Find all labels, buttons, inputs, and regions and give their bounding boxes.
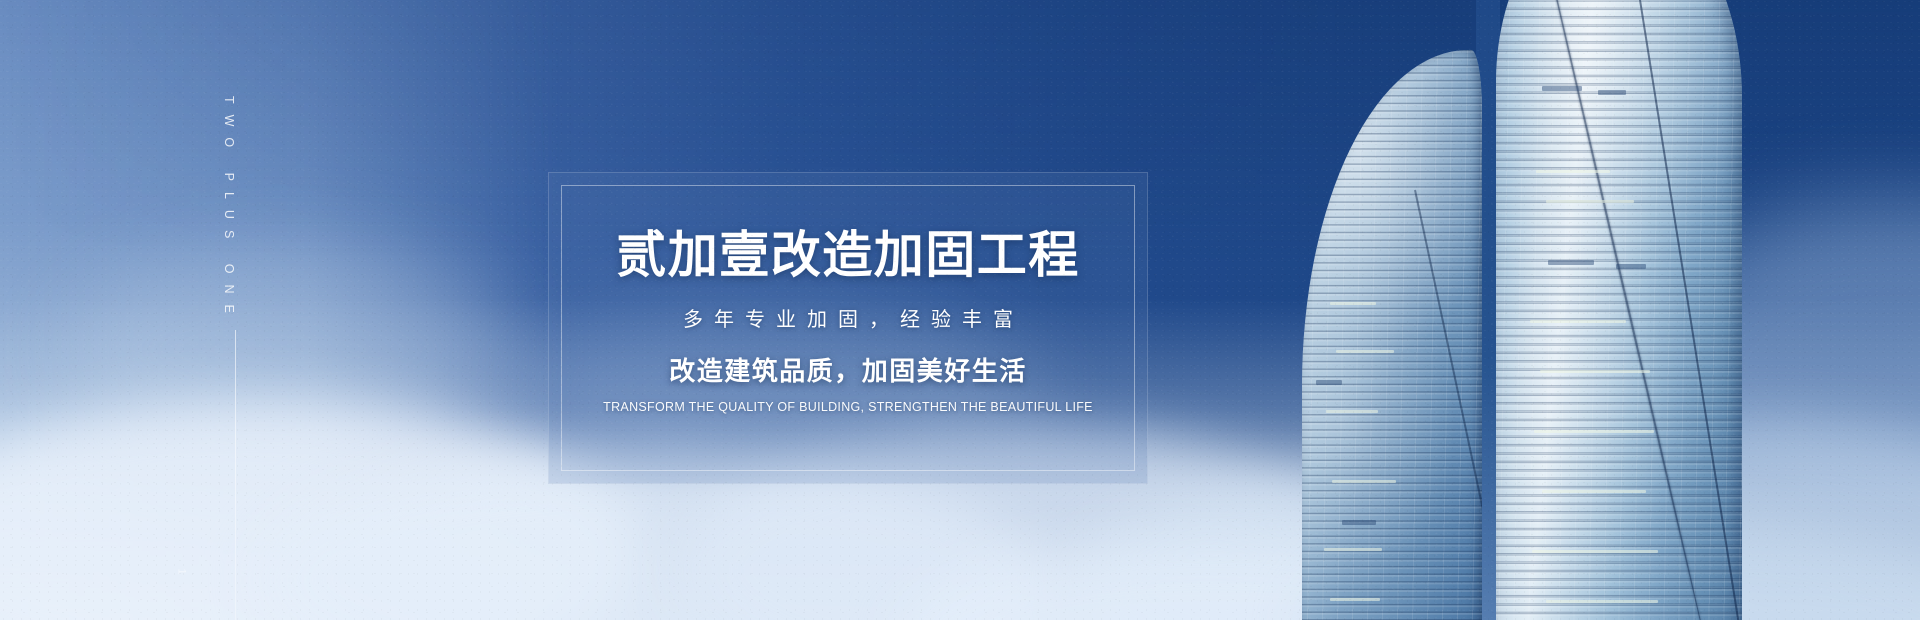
lit-window [1540,370,1650,373]
skyscraper-group [1290,0,1920,620]
hero-text-stack: 贰加壹改造加固工程 多年专业加固，经验丰富 改造建筑品质，加固美好生活 TRAN… [562,186,1134,470]
skyscraper-right [1496,0,1742,620]
lit-window [1546,600,1658,603]
lit-window [1530,320,1626,323]
lit-window [1330,598,1380,601]
lit-window [1536,170,1610,173]
hero-text-panel: 贰加壹改造加固工程 多年专业加固，经验丰富 改造建筑品质，加固美好生活 TRAN… [548,172,1148,484]
hero-panel-inner-border: 贰加壹改造加固工程 多年专业加固，经验丰富 改造建筑品质，加固美好生活 TRAN… [561,185,1135,471]
dark-window [1542,86,1582,91]
lit-window [1330,302,1376,305]
lit-window [1546,200,1634,203]
hero-subtitle: 多年专业加固，经验丰富 [672,310,1024,330]
dark-window [1598,90,1626,95]
dark-window [1548,260,1594,265]
vertical-brand-text: TWO PLUS ONE [222,96,236,324]
lit-window [1324,548,1382,551]
hero-slogan: 改造建筑品质，加固美好生活 [669,358,1027,384]
lit-window [1332,480,1396,483]
hero-tagline-english: TRANSFORM THE QUALITY OF BUILDING, STREN… [603,401,1093,414]
hero-headline: 贰加壹改造加固工程 [616,230,1080,280]
skyscraper-left [1302,50,1482,620]
dark-window [1616,264,1646,269]
floor-bands [1302,50,1482,620]
lit-window [1532,550,1658,553]
vertical-divider-line [235,330,236,620]
brand-mark-number: 1 [176,568,188,575]
banner-stage: TWO PLUS ONE 1 贰加壹改造加固工程 多年专业加固，经验丰富 改造建… [0,0,1920,620]
dark-window [1316,380,1342,385]
lit-window [1542,490,1646,493]
lit-window [1336,350,1394,353]
dark-window [1342,520,1376,525]
lit-window [1534,430,1654,433]
lit-window [1326,410,1378,413]
